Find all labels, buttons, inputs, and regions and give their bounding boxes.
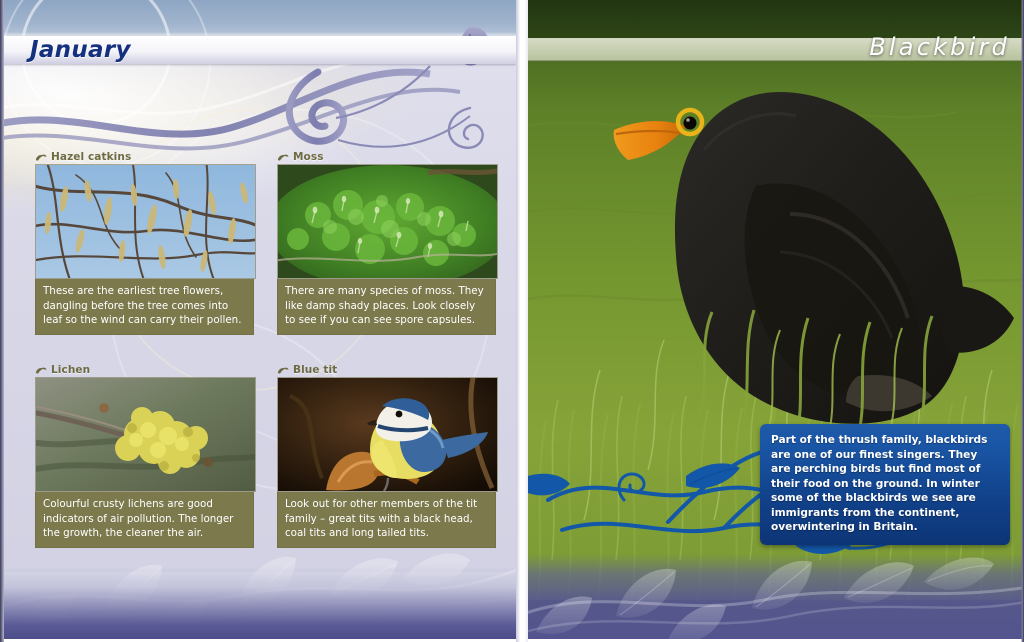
panel-caption-hazel-catkins: These are the earliest tree flowers, dan… <box>35 279 254 335</box>
panel-heading-text: Blue tit <box>293 364 337 376</box>
magazine-spread: January Hazel catkins <box>0 0 1024 642</box>
panel-heading-blue-tit: Blue tit <box>277 363 496 377</box>
leaf-icon <box>35 153 47 162</box>
right-page-footer-gradient <box>528 554 1024 642</box>
left-page: January Hazel catkins <box>0 0 516 642</box>
panel-caption-blue-tit: Look out for other members of the tit fa… <box>277 492 496 548</box>
panel-lichen: Lichen <box>35 363 254 548</box>
top-blue-band <box>0 0 516 38</box>
panel-heading-moss: Moss <box>277 150 496 164</box>
panel-image-hazel-catkins <box>35 164 256 279</box>
panel-image-lichen <box>35 377 256 492</box>
panel-moss: Moss <box>277 150 496 335</box>
leaf-icon <box>277 153 289 162</box>
panel-heading-text: Moss <box>293 151 324 163</box>
right-page-title: Blackbird <box>869 32 1010 62</box>
panel-image-blue-tit <box>277 377 498 492</box>
panel-caption-lichen: Colourful crusty lichens are good indica… <box>35 492 254 548</box>
panel-blue-tit: Blue tit <box>277 363 496 548</box>
page-title: January <box>30 36 131 64</box>
right-page: Blackbird <box>528 0 1024 642</box>
panel-heading-hazel-catkins: Hazel catkins <box>35 150 254 164</box>
leaf-icon <box>35 366 47 375</box>
panel-heading-lichen: Lichen <box>35 363 254 377</box>
panel-hazel-catkins: Hazel catkins <box>35 150 254 335</box>
leaf-icon <box>277 366 289 375</box>
blackbird-info-text: Part of the thrush family, blackbirds ar… <box>771 433 1000 535</box>
panel-heading-text: Lichen <box>51 364 90 376</box>
panel-heading-text: Hazel catkins <box>51 151 131 163</box>
blackbird-info-box: Part of the thrush family, blackbirds ar… <box>760 424 1010 545</box>
left-page-footer-gradient <box>0 566 516 642</box>
panel-image-moss <box>277 164 498 279</box>
left-page-edge <box>0 0 4 642</box>
page-gutter <box>516 0 528 642</box>
panel-caption-moss: There are many species of moss. They lik… <box>277 279 496 335</box>
